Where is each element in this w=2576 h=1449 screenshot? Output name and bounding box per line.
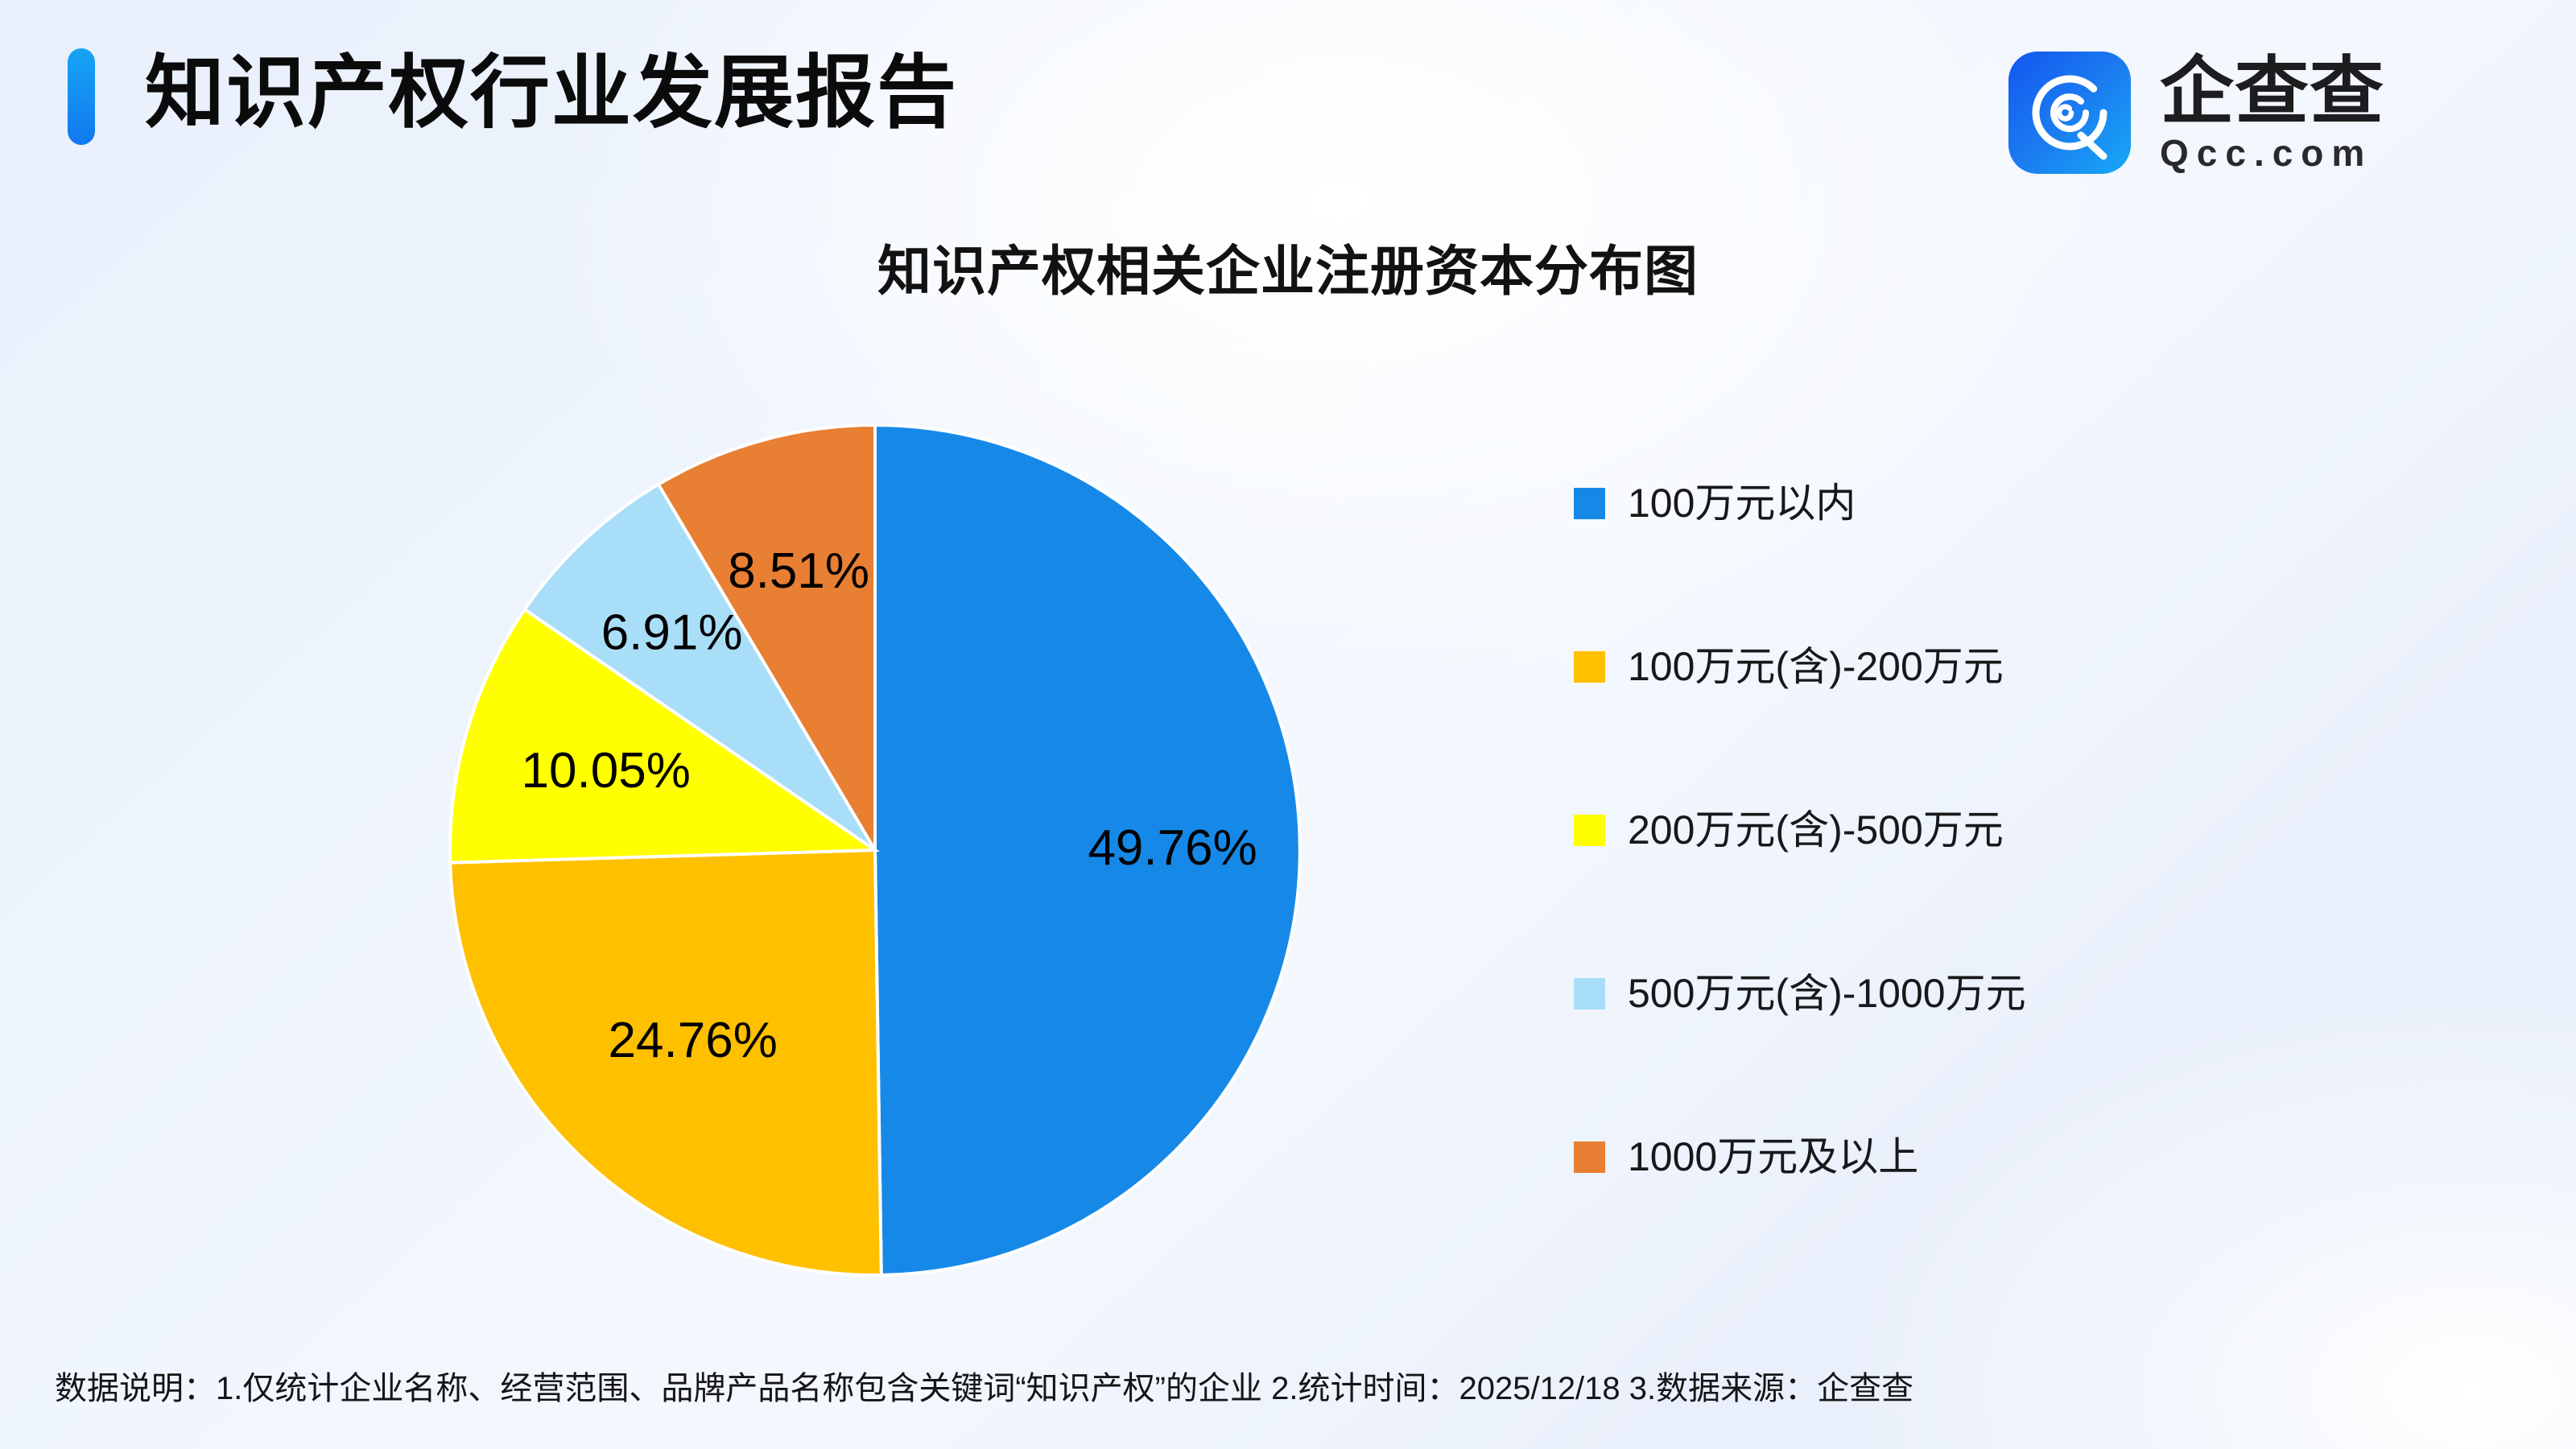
page-header: 知识产权行业发展报告 企查查 Qcc.com — [0, 0, 2576, 193]
brand-logo: 企查查 Qcc.com — [2008, 44, 2384, 181]
qcc-target-q-icon — [2008, 52, 2131, 174]
legend-label-2: 200万元(含)-500万元 — [1628, 810, 2004, 850]
page-title: 知识产权行业发展报告 — [145, 36, 958, 149]
pie-chart: 49.76%24.76%10.05%6.91%8.51% — [448, 423, 1302, 1278]
chart-legend: 100万元以内 100万元(含)-200万元 200万元(含)-500万元 50… — [1574, 483, 2298, 1177]
brand-name-cn: 企查查 — [2160, 52, 2384, 132]
chart-title: 知识产权相关企业注册资本分布图 — [0, 228, 2576, 306]
title-accent-bar — [68, 48, 95, 145]
legend-label-3: 500万元(含)-1000万元 — [1628, 973, 2026, 1013]
footer-note: 数据说明：1.仅统计企业名称、经营范围、品牌产品名称包含关键词“知识产权”的企业… — [55, 1362, 2526, 1409]
pie-slice-label-3: 6.91% — [601, 605, 743, 661]
legend-item-4[interactable]: 1000万元及以上 — [1574, 1137, 2298, 1177]
legend-item-0[interactable]: 100万元以内 — [1574, 483, 2298, 523]
legend-label-1: 100万元(含)-200万元 — [1628, 646, 2004, 687]
legend-swatch-icon-1 — [1574, 651, 1605, 683]
legend-item-1[interactable]: 100万元(含)-200万元 — [1574, 646, 2298, 687]
legend-label-0: 100万元以内 — [1628, 483, 1856, 523]
legend-swatch-icon-0 — [1574, 488, 1605, 519]
legend-label-4: 1000万元及以上 — [1628, 1137, 1918, 1177]
legend-swatch-icon-2 — [1574, 815, 1605, 846]
pie-slice-label-0: 49.76% — [1088, 820, 1257, 876]
legend-swatch-icon-4 — [1574, 1141, 1605, 1173]
pie-slice-label-2: 10.05% — [522, 743, 691, 799]
brand-wordmark: 企查查 Qcc.com — [2160, 52, 2384, 174]
legend-swatch-icon-3 — [1574, 978, 1605, 1009]
pie-slice-label-4: 8.51% — [728, 543, 869, 599]
pie-slice-label-1: 24.76% — [609, 1013, 778, 1068]
report-page: 知识产权行业发展报告 企查查 Qcc.com 知识产权相关企业注册资本分布图 — [0, 0, 2576, 1449]
legend-item-2[interactable]: 200万元(含)-500万元 — [1574, 810, 2298, 850]
brand-name-en: Qcc.com — [2160, 132, 2384, 174]
legend-item-3[interactable]: 500万元(含)-1000万元 — [1574, 973, 2298, 1013]
